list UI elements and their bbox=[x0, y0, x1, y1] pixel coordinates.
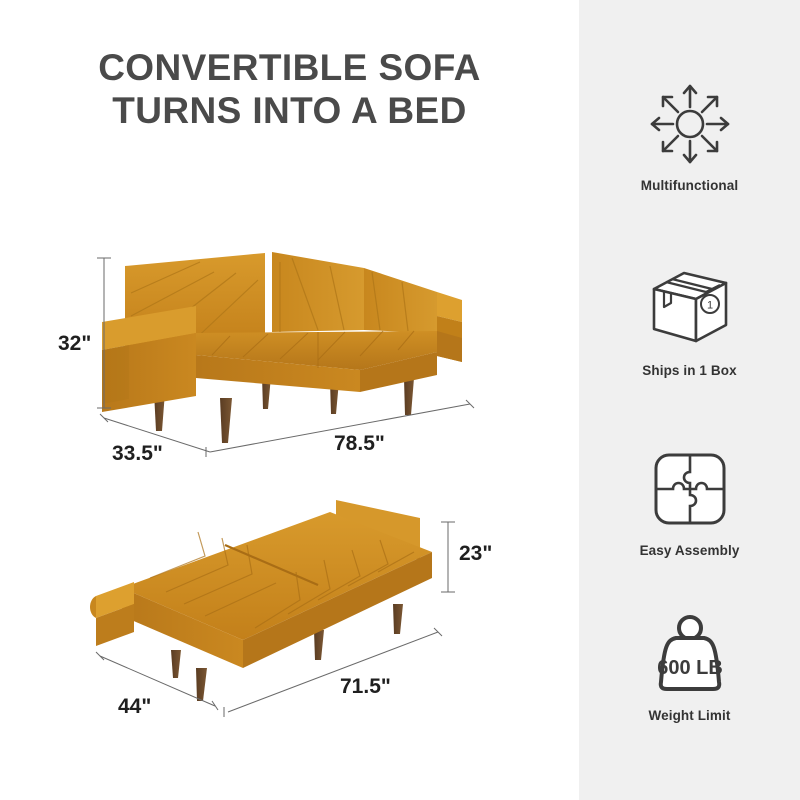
dimension-label-bed-width: 71.5" bbox=[340, 675, 391, 699]
features-panel: Multifunctional bbox=[579, 0, 800, 800]
dimension-label-sofa-width: 78.5" bbox=[334, 432, 385, 456]
product-illustration-panel: CONVERTIBLE SOFA TURNS INTO A BED bbox=[0, 0, 579, 800]
feature-label-easy-assembly: Easy Assembly bbox=[579, 543, 800, 558]
weight-value-badge: 600 LB bbox=[657, 657, 723, 679]
dimension-label-sofa-depth: 33.5" bbox=[112, 442, 163, 466]
feature-multifunctional: Multifunctional bbox=[579, 78, 800, 193]
dimension-label-bed-depth: 44" bbox=[118, 695, 151, 719]
feature-weight-limit: 600 LB Weight Limit bbox=[579, 608, 800, 723]
feature-label-weight-limit: Weight Limit bbox=[579, 708, 800, 723]
product-infographic: CONVERTIBLE SOFA TURNS INTO A BED bbox=[0, 0, 800, 800]
feature-ships-in-1-box: 1 Ships in 1 Box bbox=[579, 263, 800, 378]
feature-easy-assembly: Easy Assembly bbox=[579, 443, 800, 558]
dimension-label-bed-height: 23" bbox=[459, 542, 492, 566]
feature-label-ships-in-1-box: Ships in 1 Box bbox=[579, 363, 800, 378]
bed-illustration bbox=[0, 0, 579, 800]
bed-body bbox=[90, 500, 432, 701]
shipping-box-icon: 1 bbox=[579, 263, 800, 355]
weight-kettlebell-icon: 600 LB bbox=[579, 608, 800, 700]
feature-label-multifunctional: Multifunctional bbox=[579, 178, 800, 193]
multifunctional-arrows-icon bbox=[579, 78, 800, 170]
puzzle-pieces-icon bbox=[579, 443, 800, 535]
dimension-label-sofa-height: 32" bbox=[58, 332, 91, 356]
box-count-badge: 1 bbox=[706, 300, 712, 312]
